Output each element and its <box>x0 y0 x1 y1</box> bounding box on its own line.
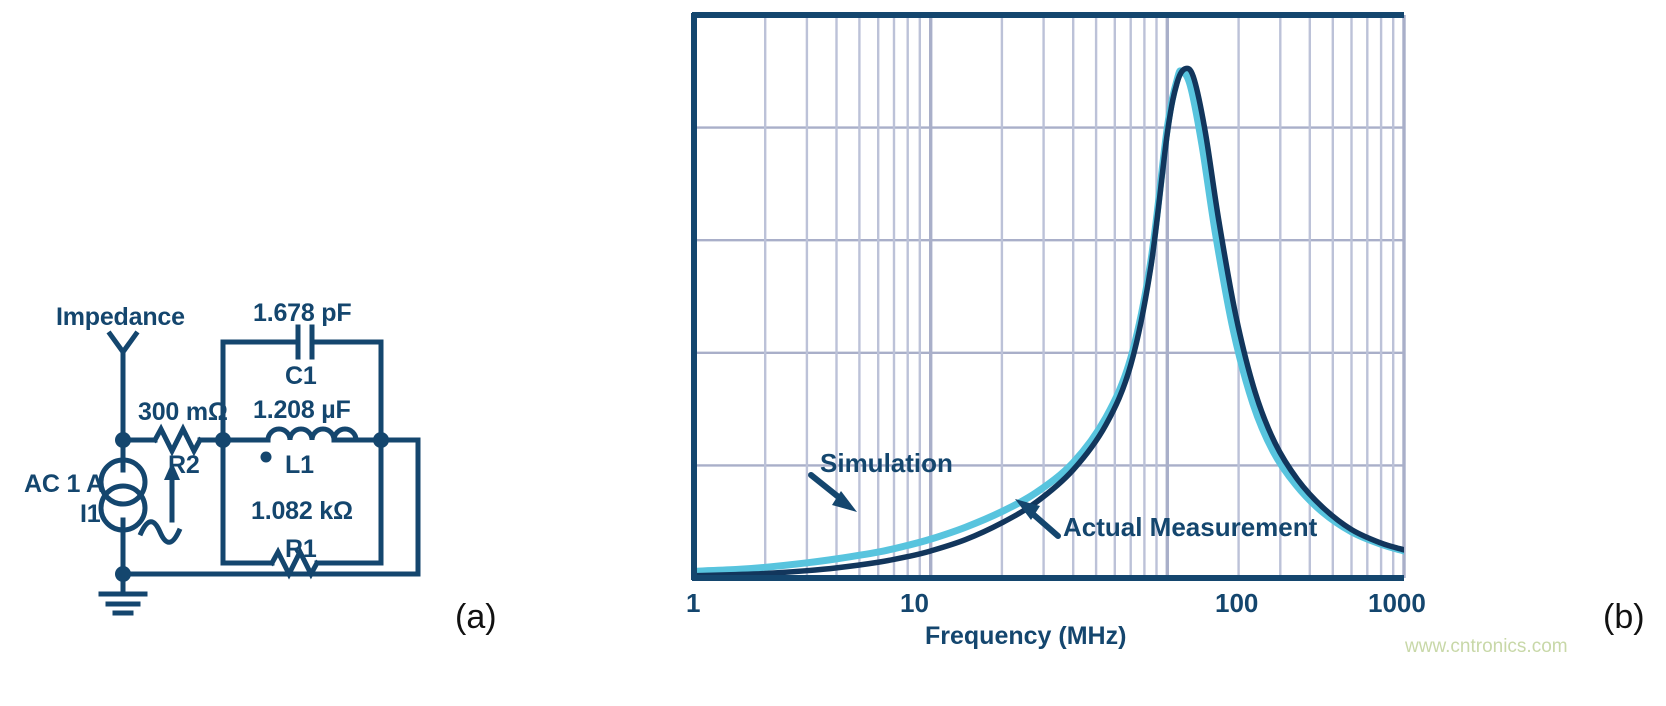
impedance-port-label: Impedance <box>56 303 185 332</box>
junction-dot-mid <box>215 432 231 448</box>
junction-dot-right <box>373 432 389 448</box>
r1-ref-label: R1 <box>285 535 317 564</box>
r2-ref-label: R2 <box>168 451 200 480</box>
l1-ref-label: L1 <box>285 451 314 480</box>
panel-a-letter: (a) <box>455 598 497 637</box>
junction-dot-ground <box>115 566 131 582</box>
circuit-schematic-svg <box>0 0 660 706</box>
l1-value-label: 1.208 µF <box>253 396 351 425</box>
r2-value-label: 300 mΩ <box>138 398 228 427</box>
inductor-polarity-dot <box>261 452 272 463</box>
source-value-label: AC 1 A <box>24 470 104 499</box>
resistor-r2-symbol <box>155 429 200 451</box>
ac-sine-symbol <box>141 522 179 543</box>
junction-dot-left <box>115 432 131 448</box>
x-tick-label-100: 100 <box>1215 588 1258 619</box>
source-ref-label: I1 <box>80 500 100 529</box>
annotation-simulation: Simulation <box>820 448 953 479</box>
c1-value-label: 1.678 pF <box>253 299 351 328</box>
x-tick-label-1000: 1000 <box>1368 588 1426 619</box>
impedance-plot-panel: 1 10 100 1000 Frequency (MHz) Simulation… <box>660 0 1666 706</box>
x-axis-title: Frequency (MHz) <box>925 622 1126 651</box>
c1-ref-label: C1 <box>285 362 317 391</box>
panel-b-letter: (b) <box>1603 598 1645 637</box>
x-tick-label-1: 1 <box>686 588 700 619</box>
r1-value-label: 1.082 kΩ <box>251 497 353 526</box>
circuit-diagram-panel: Impedance 300 mΩ R2 1.678 pF C1 1.208 µF… <box>0 0 660 706</box>
impedance-chart-svg <box>660 0 1666 706</box>
x-tick-label-10: 10 <box>900 588 929 619</box>
site-watermark: www.cntronics.com <box>1405 636 1568 658</box>
impedance-port-chevron <box>110 334 136 352</box>
annotation-actual-measurement: Actual Measurement <box>1063 512 1317 543</box>
